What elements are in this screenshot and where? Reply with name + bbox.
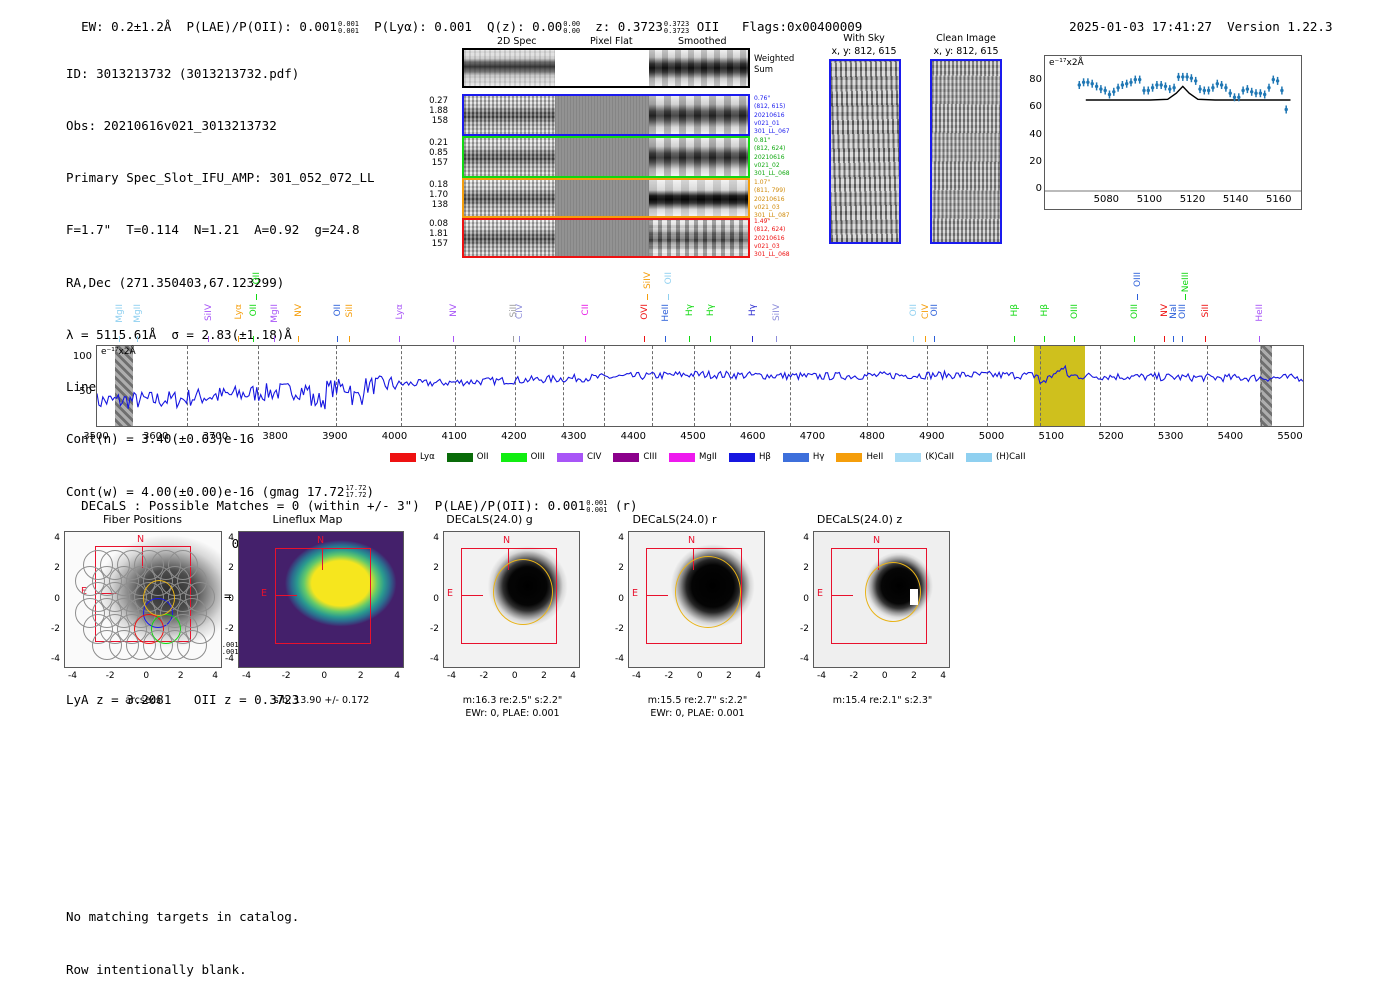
cutout-title-fiber-positions: Fiber Positions: [60, 513, 225, 526]
decals-post: (r): [615, 498, 638, 513]
cutout-ytick: 0: [791, 594, 809, 604]
spectrum-species-tick: [208, 336, 209, 342]
cutout-decals-g[interactable]: N E: [443, 531, 580, 668]
legend-label: Lyα: [420, 452, 435, 462]
decals-z-compass-e: E: [817, 588, 823, 599]
clean-image-title-text: Clean Image: [920, 33, 1012, 46]
column-title-pixelflat: Pixel Flat: [590, 36, 633, 47]
fiber-row-2-right-labels: 0.81" (812, 624) 20210616 v021_02 301_LL…: [754, 137, 790, 178]
spectrum-species-label: HeII: [1255, 304, 1265, 322]
info-seeing: F=1.7" T=0.114 N=1.21 A=0.92 g=24.8: [66, 221, 375, 238]
fiber-row-4-sep: 1.49": [754, 218, 790, 226]
spectrum-xtick: 5200: [1091, 431, 1131, 442]
spectrum-xtick: 4700: [792, 431, 832, 442]
fiber-row-3-obs: v021_03: [754, 204, 790, 212]
spectrum-xtick: 4800: [852, 431, 892, 442]
legend-label: Hβ: [759, 452, 771, 462]
column-title-smoothed: Smoothed: [678, 36, 727, 47]
emission-zoom-ytick: 60: [1020, 101, 1042, 112]
spectrum-xtick: 3600: [136, 431, 176, 442]
spectrum-xtick: 3800: [255, 431, 295, 442]
cutout-xtick: 4: [394, 671, 400, 681]
cutout-xtick: -4: [447, 671, 456, 681]
cutout-ytick: -2: [216, 624, 234, 634]
spectrum-species-tick: [1173, 336, 1174, 342]
clean-image-title: Clean Image x, y: 812, 615: [920, 33, 1012, 58]
legend-entry: MgII: [669, 452, 717, 462]
fiber-row-3-pixelflat: [555, 180, 649, 216]
spectrum-xtick: 5000: [972, 431, 1012, 442]
header-z-lo: 0.3723: [664, 28, 689, 35]
lineflux-e-tick: [275, 595, 297, 596]
fiber-row-2-pixelflat: [555, 138, 649, 176]
cutout-xticks-decals-g: -4-2024: [443, 671, 580, 681]
legend-swatch: [836, 453, 862, 462]
fiber-row-2-val-1: 0.85: [414, 148, 448, 158]
weighted-sum-pixelflat-image: [555, 50, 649, 86]
spectrum-species-tick: [1137, 294, 1138, 300]
fiber-row-1-left-labels: 0.27 1.88 158: [414, 96, 448, 126]
cutout-ytick: -4: [791, 654, 809, 664]
fiber-compass-n: N: [137, 534, 144, 545]
cutout-caption-fiber-0: arcsecs: [60, 694, 226, 707]
legend-swatch: [613, 453, 639, 462]
cutout-xtick: -2: [479, 671, 488, 681]
cutout-caption-fiber: arcsecs: [60, 694, 226, 707]
spectrum-species-tick: [925, 336, 926, 342]
fiber-row-3-date: 20210616: [754, 196, 790, 204]
decals-z-compass-n: N: [873, 535, 880, 546]
fiber-row-4-left-labels: 0.08 1.81 157: [414, 219, 448, 249]
with-sky-xy-text: x, y: 812, 615: [820, 46, 908, 59]
cutout-ytick: -4: [42, 654, 60, 664]
cutout-ytick: -4: [421, 654, 439, 664]
with-sky-title: With Sky x, y: 812, 615: [820, 33, 908, 58]
cutout-title-decals-z: DECaLS(24.0) z: [772, 513, 947, 526]
cutout-xticks-fiber: -4-2024: [64, 671, 222, 681]
fiber-row-3-left-labels: 0.18 1.70 138: [414, 180, 448, 210]
cutout-ytick: -2: [606, 624, 624, 634]
fiber-row-4-pixelflat: [555, 220, 649, 256]
cutout-decals-z[interactable]: N E: [813, 531, 950, 668]
cutout-caption-decals-r-0: m:15.5 re:2.7" s:2.2": [610, 694, 785, 707]
fiber-row-4-obs: v021_03: [754, 243, 790, 251]
emission-zoom-xtick: 5120: [1175, 194, 1211, 205]
decals-summary-line: DECaLS : Possible Matches = 0 (within +/…: [66, 483, 637, 514]
cutout-caption-decals-z: m:15.4 re:2.1" s:2.3": [795, 694, 970, 707]
legend-entry: Hγ: [783, 452, 825, 462]
lineflux-n-tick: [322, 548, 323, 570]
cutout-xtick: 4: [755, 671, 761, 681]
cutout-xticks-decals-r: -4-2024: [628, 671, 765, 681]
legend-entry: OIII: [501, 452, 545, 462]
spectrum-xtick: 5500: [1270, 431, 1310, 442]
spectrum-species-label: OIII: [1178, 304, 1188, 319]
spectrum-species-tick: [1185, 294, 1186, 300]
fiber-row-4-ifu: 301_LL_068: [754, 251, 790, 259]
cutout-decals-r[interactable]: N E: [628, 531, 765, 668]
cutout-xtick: -2: [849, 671, 858, 681]
info-primary-spec: Primary Spec_Slot_IFU_AMP: 301_052_072_L…: [66, 169, 375, 186]
emission-zoom-ytick: 40: [1020, 129, 1042, 140]
legend-entry: (H)CaII: [966, 452, 1026, 462]
cutout-xtick: -4: [632, 671, 641, 681]
with-sky-image: [829, 59, 901, 244]
legend-swatch: [669, 453, 695, 462]
spectrum-species-label: OII: [930, 304, 940, 316]
info-lambda: λ = 5115.61Å σ = 2.83(±1.18)Å: [66, 326, 375, 343]
cutout-xtick: 4: [940, 671, 946, 681]
spectrum-species-tick: [1044, 336, 1045, 342]
spectrum-species-label: OII: [333, 304, 343, 316]
spectrum-species-tick: [1164, 336, 1165, 342]
fiber-row-1-date: 20210616: [754, 112, 790, 120]
fiber-row-4-val-2: 157: [414, 239, 448, 249]
spectrum-xtick: 5300: [1151, 431, 1191, 442]
header-qz-lo: 0.00: [563, 28, 580, 35]
spectrum-xtick: 4400: [613, 431, 653, 442]
legend-swatch: [557, 453, 583, 462]
fiber-row-2-2dspec: [464, 138, 555, 176]
spectrum-species-label: OII: [252, 272, 262, 284]
spectrum-species-tick: [399, 336, 400, 342]
spectrum-species-label: Hβ: [1040, 304, 1050, 317]
spectrum-species-label: Lyα: [234, 304, 244, 319]
spectrum-ytick: 50: [64, 386, 92, 397]
cutout-caption-decals-r-1: EWr: 0, PLAE: 0.001: [610, 707, 785, 720]
spectrum-trace: [97, 346, 1303, 426]
fiber-row-1-ifu: 301_LL_067: [754, 128, 790, 136]
spectrum-xtick: 4200: [494, 431, 534, 442]
spectrum-species-tick: [337, 336, 338, 342]
legend-entry: OII: [447, 452, 489, 462]
spectrum-species-tick: [668, 294, 669, 300]
cutout-ytick: -4: [606, 654, 624, 664]
legend-entry: Lyα: [390, 452, 435, 462]
spectrum-species-label: OII: [664, 272, 674, 284]
spectrum-species-tick: [453, 336, 454, 342]
spectrum-xtick: 4300: [554, 431, 594, 442]
cutout-xtick: 0: [882, 671, 888, 681]
cutout-caption-lineflux: s/b: 13.90 +/- 0.172: [234, 694, 409, 707]
fiber-row-2-sep: 0.81": [754, 137, 790, 145]
spectrum-species-label: OIII: [1133, 272, 1143, 287]
cutout-title-decals-g: DECaLS(24.0) g: [402, 513, 577, 526]
legend-label: CIV: [587, 452, 601, 462]
cutout-ytick: 2: [421, 563, 439, 573]
spectrum-species-tick: [1182, 336, 1183, 342]
spectrum-species-tick: [934, 336, 935, 342]
column-title-2dspec: 2D Spec: [497, 36, 537, 47]
cutout-ytick: -2: [42, 624, 60, 634]
fiber-row-2-val-2: 157: [414, 158, 448, 168]
spectrum-xtick: 3700: [195, 431, 235, 442]
emission-zoom-xtick: 5100: [1131, 194, 1167, 205]
legend-swatch: [895, 453, 921, 462]
spectrum-species-label: Hγ: [748, 304, 758, 316]
fiber-row-2-obs: v021_02: [754, 162, 790, 170]
spectrum-species-label: MgII: [270, 304, 280, 323]
fiber-row-1-pixelflat: [555, 96, 649, 134]
emission-line-zoom-plot: e⁻¹⁷x2Å: [1044, 55, 1302, 210]
spectrum-species-label: SiII: [1201, 304, 1211, 318]
spectrum-species-tick: [1259, 336, 1260, 342]
spectrum-species-tick: [710, 336, 711, 342]
decals-pre: DECaLS : Possible Matches = 0 (within +/…: [81, 498, 585, 513]
header-qz-label: Q(z): 0.00: [487, 19, 562, 34]
legend-swatch: [501, 453, 527, 462]
info-id: ID: 3013213732 (3013213732.pdf): [66, 65, 375, 82]
cutout-xtick: 2: [178, 671, 184, 681]
legend-label: CIII: [643, 452, 657, 462]
cutout-xtick: 2: [541, 671, 547, 681]
cutout-caption-decals-g-1: EWr: 0, PLAE: 0.001: [425, 707, 600, 720]
spectrum-species-tick: [1074, 336, 1075, 342]
legend-label: HeII: [866, 452, 883, 462]
fiber-row-2: [462, 136, 750, 178]
legend-label: MgII: [699, 452, 717, 462]
fiber-row-3-2dspec: [464, 180, 555, 216]
spectrum-species-tick: [776, 336, 777, 342]
fiber-row-4-2dspec: [464, 220, 555, 256]
header-meta: 2025-01-03 17:41:27 Version 1.22.3: [1054, 4, 1332, 34]
cutout-ytick: 4: [421, 533, 439, 543]
cutout-xtick: 4: [570, 671, 576, 681]
spectrum-species-label: OII: [909, 304, 919, 316]
cutout-ytick: -4: [216, 654, 234, 664]
decals-g-e-tick: [461, 595, 483, 596]
fiber-row-3-val-0: 0.18: [414, 180, 448, 190]
cutout-xtick: 0: [143, 671, 149, 681]
spectrum-species-label: Lyα: [395, 304, 405, 319]
cutout-title-lineflux: Lineflux Map: [225, 513, 390, 526]
clean-image-xy-text: x, y: 812, 615: [920, 46, 1012, 59]
cutout-xtick: 4: [212, 671, 218, 681]
fiber-row-3-sep: 1.07": [754, 179, 790, 187]
spectrum-species-label: NV: [449, 304, 459, 317]
fiber-row-2-left-labels: 0.21 0.85 157: [414, 138, 448, 168]
spectrum-species-label: Hβ: [1010, 304, 1020, 317]
cutout-xticks-decals-z: -4-2024: [813, 671, 950, 681]
spectrum-species-label: HeII: [661, 304, 671, 322]
emission-zoom-ytick: 20: [1020, 156, 1042, 167]
spectrum-xtick: 4100: [434, 431, 474, 442]
spectrum-species-tick: [513, 336, 514, 342]
emission-zoom-xtick: 5080: [1088, 194, 1124, 205]
spectrum-species-label: SiIV: [643, 272, 653, 289]
bottom-note-line-1: No matching targets in catalog.: [66, 908, 299, 926]
fiber-row-3-xy: (811, 799): [754, 187, 790, 195]
fiber-row-1-obs: v021_01: [754, 120, 790, 128]
spectrum-species-label: CII: [581, 304, 591, 316]
spectrum-species-label: OIII: [1070, 304, 1080, 319]
decals-g-aperture-ellipse: [493, 559, 553, 625]
legend-label: OII: [477, 452, 489, 462]
fiber-row-4: [462, 218, 750, 258]
legend-swatch: [390, 453, 416, 462]
lineflux-compass-e: E: [261, 588, 267, 599]
fiber-row-1-val-0: 0.27: [414, 96, 448, 106]
spectrum-species-tick: [137, 336, 138, 342]
emission-zoom-xtick: 5160: [1261, 194, 1297, 205]
cutout-xtick: 2: [726, 671, 732, 681]
spectrum-species-tick: [274, 336, 275, 342]
legend-swatch: [966, 453, 992, 462]
spectrum-species-tick: [298, 336, 299, 342]
spectrum-species-tick: [1014, 336, 1015, 342]
header-timestamp: 2025-01-03 17:41:27: [1069, 19, 1212, 34]
cutout-ytick: 0: [421, 594, 439, 604]
fiber-row-2-xy: (812, 624): [754, 145, 790, 153]
fiber-row-4-val-1: 1.81: [414, 229, 448, 239]
spectrum-species-label: SiIV: [772, 304, 782, 321]
cutout-caption-decals-r: m:15.5 re:2.7" s:2.2" EWr: 0, PLAE: 0.00…: [610, 694, 785, 720]
fiber-row-4-right-labels: 1.49" (812, 624) 20210616 v021_03 301_LL…: [754, 218, 790, 259]
spectrum-legend: LyαOIIOIIICIVCIIIMgIIHβHγHeII(K)CaII(H)C…: [390, 452, 1026, 462]
cutout-ytick: 2: [42, 563, 60, 573]
fiber-row-4-val-0: 0.08: [414, 219, 448, 229]
spectrum-species-label: SiIV: [204, 304, 214, 321]
spectrum-xtick: 5400: [1210, 431, 1250, 442]
spectrum-xtick: 3900: [315, 431, 355, 442]
spectrum-species-tick: [238, 336, 239, 342]
legend-entry: CIV: [557, 452, 601, 462]
weighted-sum-2dspec-image: [464, 50, 555, 86]
decals-z-e-tick: [831, 595, 853, 596]
legend-swatch: [783, 453, 809, 462]
lineflux-compass-n: N: [317, 535, 324, 546]
legend-entry: (K)CaII: [895, 452, 954, 462]
cutout-ytick: -2: [791, 624, 809, 634]
fiber-row-3-smoothed: [649, 180, 748, 216]
fiber-row-3: [462, 178, 750, 218]
fiber-row-2-val-0: 0.21: [414, 138, 448, 148]
fiber-row-4-smoothed: [649, 220, 748, 256]
cutout-xtick: -4: [242, 671, 251, 681]
fiber-row-3-val-2: 138: [414, 200, 448, 210]
fiber-row-1-right-labels: 0.76" (812, 615) 20210616 v021_01 301_LL…: [754, 95, 790, 136]
spectrum-species-label: MgII: [133, 304, 143, 323]
cutout-ytick: 2: [791, 563, 809, 573]
header-z-type: OII: [697, 19, 720, 34]
weighted-sum-row: [462, 48, 750, 88]
spectrum-xtick: 4500: [673, 431, 713, 442]
cutout-ytick: 4: [42, 533, 60, 543]
spectrum-species-tick: [1205, 336, 1206, 342]
header-version: Version 1.22.3: [1227, 19, 1332, 34]
cutout-lineflux-map[interactable]: N E: [238, 531, 404, 668]
spectrum-species-tick: [349, 336, 350, 342]
info-radec: RA,Dec (271.350403,67.123299): [66, 274, 375, 291]
cutout-fiber-positions[interactable]: N E: [64, 531, 222, 668]
emission-zoom-ytick: 80: [1020, 74, 1042, 85]
spectrum-species-tick: [644, 336, 645, 342]
spectrum-species-tick: [665, 336, 666, 342]
cutout-xtick: -4: [68, 671, 77, 681]
fiber-row-2-ifu: 301_LL_068: [754, 170, 790, 178]
legend-swatch: [729, 453, 755, 462]
bottom-note: No matching targets in catalog. Row inte…: [66, 873, 299, 996]
spectrum-ytick: 100: [64, 351, 92, 362]
cutout-caption-decals-g: m:16.3 re:2.5" s:2.2" EWr: 0, PLAE: 0.00…: [425, 694, 600, 720]
emission-zoom-axis-note: e⁻¹⁷x2Å: [1049, 58, 1084, 68]
decals-r-compass-e: E: [632, 588, 638, 599]
bottom-note-line-2: Row intentionally blank.: [66, 961, 299, 979]
cutout-xtick: -2: [106, 671, 115, 681]
cutout-xtick: 2: [911, 671, 917, 681]
header-flags: Flags:0x00400009: [742, 19, 862, 34]
cutout-caption-decals-g-0: m:16.3 re:2.5" s:2.2": [425, 694, 600, 707]
decals-z-masked-pixels: [910, 589, 918, 605]
full-spectrum-plot: e⁻¹⁷x2Å: [96, 345, 1304, 427]
clean-image: [930, 59, 1002, 244]
decals-r-e-tick: [646, 595, 668, 596]
spectrum-species-label: OII: [249, 304, 259, 316]
spectrum-species-label: CIV: [515, 304, 525, 319]
spectrum-species-tick: [689, 336, 690, 342]
legend-label: (K)CaII: [925, 452, 954, 462]
spectrum-xtick: 3500: [76, 431, 116, 442]
fiber-row-1-smoothed: [649, 96, 748, 134]
fiber-row-4-xy: (812, 624): [754, 226, 790, 234]
cutout-xticks-lineflux: -4-2024: [238, 671, 404, 681]
cutout-xtick: 0: [697, 671, 703, 681]
fiber-row-1-sep: 0.76": [754, 95, 790, 103]
spectrum-species-label: Hγ: [706, 304, 716, 316]
spectrum-species-tick: [585, 336, 586, 342]
cutout-ytick: 0: [216, 594, 234, 604]
spectrum-species-tick: [1134, 336, 1135, 342]
decals-g-compass-n: N: [503, 535, 510, 546]
cutout-xtick: 0: [321, 671, 327, 681]
spectrum-species-label: SiII: [345, 304, 355, 318]
spectrum-xtick: 5100: [1031, 431, 1071, 442]
cutout-ytick: 0: [42, 594, 60, 604]
emission-zoom-ytick: 0: [1020, 183, 1042, 194]
spectrum-species-tick: [647, 294, 648, 300]
cutout-caption-decals-z-0: m:15.4 re:2.1" s:2.3": [795, 694, 970, 707]
fiber-row-1: [462, 94, 750, 136]
spectrum-xtick: 4600: [733, 431, 773, 442]
decals-r-compass-n: N: [688, 535, 695, 546]
fiber-row-2-date: 20210616: [754, 154, 790, 162]
decals-g-compass-e: E: [447, 588, 453, 599]
fiber-circle[interactable]: [177, 630, 207, 660]
spectrum-species-label: OVI: [640, 304, 650, 320]
legend-entry: Hβ: [729, 452, 771, 462]
decals-r-aperture-ellipse: [675, 556, 741, 628]
fiber-row-2-smoothed: [649, 138, 748, 176]
spectrum-xtick: 4000: [375, 431, 415, 442]
header-z-label: z: 0.3723: [595, 19, 663, 34]
spectrum-species-label: OIII: [1130, 304, 1140, 319]
legend-label: OIII: [531, 452, 545, 462]
cutout-ytick: 0: [606, 594, 624, 604]
fiber-row-3-val-1: 1.70: [414, 190, 448, 200]
cutout-xtick: 2: [358, 671, 364, 681]
emission-zoom-svg: [1045, 56, 1301, 209]
cutout-xtick: 0: [512, 671, 518, 681]
fiber-row-4-date: 20210616: [754, 235, 790, 243]
legend-label: (H)CaII: [996, 452, 1026, 462]
with-sky-title-text: With Sky: [820, 33, 908, 46]
fiber-row-3-right-labels: 1.07" (811, 799) 20210616 v021_03 301_LL…: [754, 179, 790, 220]
spectrum-species-label: NeIII: [1181, 272, 1191, 292]
fiber-row-1-val-1: 1.88: [414, 106, 448, 116]
spectrum-species-tick: [256, 294, 257, 300]
cutout-ytick: 4: [791, 533, 809, 543]
legend-label: Hγ: [813, 452, 825, 462]
